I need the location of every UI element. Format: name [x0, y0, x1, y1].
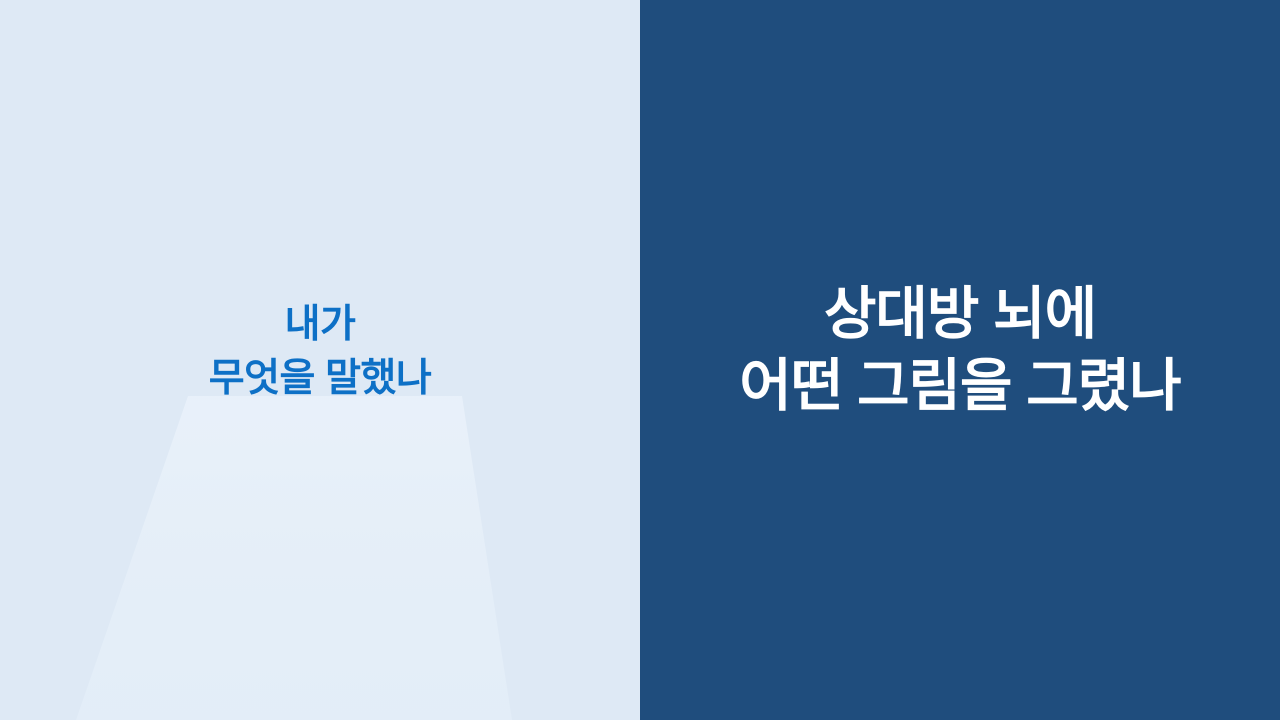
- slide-root: 내가 무엇을 말했나 상대방 뇌에 어떤 그림을 그렸나: [0, 0, 1280, 720]
- left-panel: 내가 무엇을 말했나: [0, 0, 640, 720]
- left-headline: 내가 무엇을 말했나: [0, 298, 640, 406]
- left-headline-line-2: 무엇을 말했나: [0, 352, 640, 406]
- right-headline: 상대방 뇌에 어떤 그림을 그렸나: [640, 278, 1280, 422]
- right-panel: 상대방 뇌에 어떤 그림을 그렸나: [640, 0, 1280, 720]
- right-headline-line-1: 상대방 뇌에: [640, 278, 1280, 350]
- light-beam-decoration: [0, 396, 640, 720]
- right-headline-line-2: 어떤 그림을 그렸나: [640, 350, 1280, 422]
- left-headline-line-1: 내가: [0, 298, 640, 352]
